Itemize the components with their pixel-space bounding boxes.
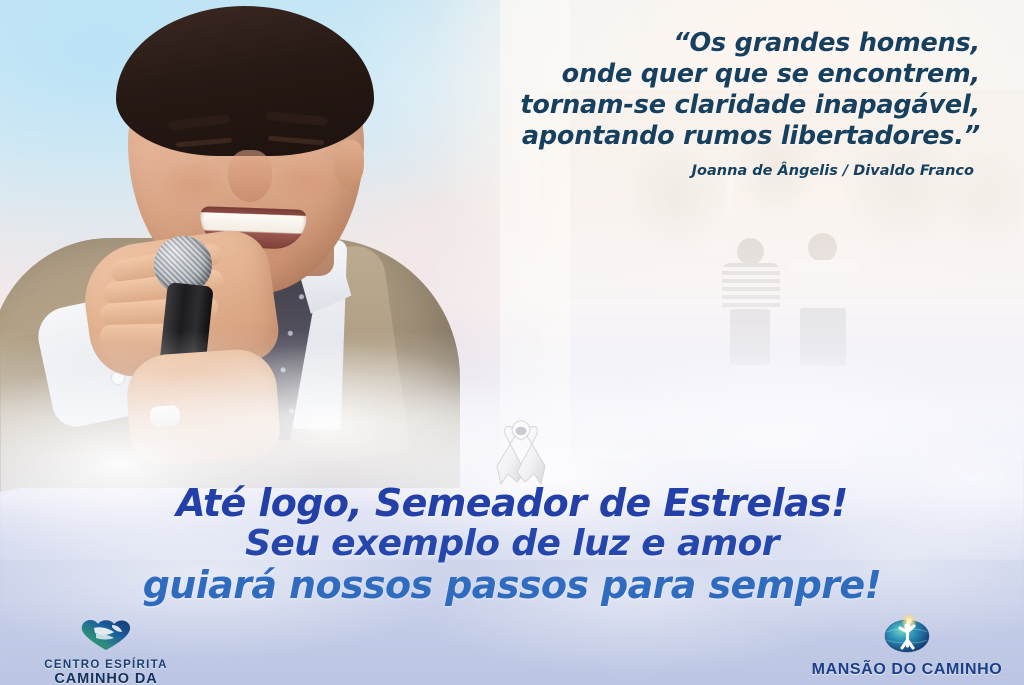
headline-line-2: Seu exemplo de luz e amor bbox=[0, 524, 1024, 564]
portrait-hair bbox=[116, 6, 374, 156]
logo-left-line-2: CAMINHO DA REDENÇÃO bbox=[8, 671, 204, 685]
scene-figure-striped-shirt bbox=[720, 238, 782, 363]
heart-hands-icon bbox=[8, 616, 204, 657]
logo-right-line-1: MANSÃO DO CAMINHO bbox=[802, 661, 1012, 679]
quote-block: “Os grandes homens, onde quer que se enc… bbox=[420, 28, 980, 179]
figure-legs bbox=[730, 309, 770, 365]
quote-line-4: apontando rumos libertadores.” bbox=[420, 121, 980, 152]
figure-head bbox=[808, 233, 837, 262]
portrait-nose bbox=[228, 150, 272, 202]
figure-head bbox=[737, 238, 764, 265]
white-ribbon-icon bbox=[487, 410, 555, 488]
scene-ground bbox=[540, 325, 1024, 430]
memorial-poster: “Os grandes homens, onde quer que se enc… bbox=[0, 0, 1024, 685]
globe-figure-icon bbox=[802, 612, 1012, 659]
scene-wall bbox=[560, 300, 1024, 330]
figure-torso bbox=[722, 263, 780, 311]
portrait-photo bbox=[0, 0, 470, 470]
logo-left-line-1: CENTRO ESPÍRITA bbox=[8, 659, 204, 671]
quote-line-3: tornam-se claridade inapagável, bbox=[420, 90, 980, 121]
portrait-cheek-left bbox=[160, 160, 228, 206]
quote-attribution: Joanna de Ângelis / Divaldo Franco bbox=[420, 163, 974, 179]
portrait-hand-holding-microphone bbox=[124, 347, 281, 467]
headline-line-3: guiará nossos passos para sempre! bbox=[0, 564, 1024, 606]
figure-legs bbox=[800, 308, 846, 366]
figure-torso bbox=[788, 260, 860, 310]
portrait-cheek-right bbox=[272, 157, 340, 203]
logo-centro-espirita: CENTRO ESPÍRITA CAMINHO DA REDENÇÃO bbox=[8, 616, 204, 685]
quote-line-2: onde quer que se encontrem, bbox=[420, 59, 980, 90]
portrait-ring bbox=[149, 405, 180, 427]
headline-block: Até logo, Semeador de Estrelas! Seu exem… bbox=[0, 482, 1024, 606]
headline-line-1: Até logo, Semeador de Estrelas! bbox=[0, 482, 1024, 524]
scene-figure-white-shirt bbox=[788, 233, 862, 365]
scene-lamp-post bbox=[727, 175, 734, 265]
logo-mansao-do-caminho: MANSÃO DO CAMINHO bbox=[802, 612, 1012, 679]
quote-line-1: “Os grandes homens, bbox=[420, 28, 980, 59]
